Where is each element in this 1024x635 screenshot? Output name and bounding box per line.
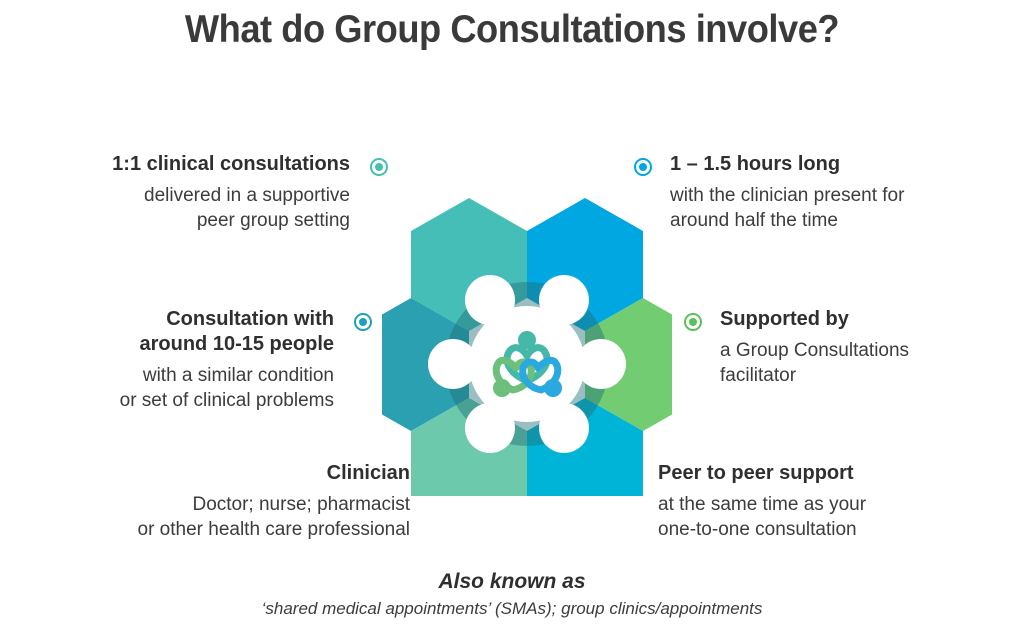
callout-clinician: Clinician Doctor; nurse; pharmacist or o… <box>0 461 448 542</box>
callout-body: with a similar condition or set of clini… <box>120 363 334 413</box>
participant-circle <box>465 275 515 325</box>
callout-group-size: Consultation with around 10-15 people wi… <box>0 307 372 413</box>
callout-duration: 1 – 1.5 hours long with the clinician pr… <box>634 152 1024 233</box>
bullet-marker-icon <box>354 313 372 331</box>
callout-one-to-one: 1:1 clinical consultations delivered in … <box>0 152 388 233</box>
callout-supported-by: Supported by a Group Consultations facil… <box>684 307 1024 388</box>
footer-subtext: ‘shared medical appointments’ (SMAs); gr… <box>0 599 1024 619</box>
callout-text: Peer to peer support at the same time as… <box>658 461 866 542</box>
callout-text: Clinician Doctor; nurse; pharmacist or o… <box>138 461 411 542</box>
participant-circle <box>465 403 515 453</box>
infographic-page: What do Group Consultations involve? 1:1… <box>0 0 1024 635</box>
callout-text: 1:1 clinical consultations delivered in … <box>112 152 350 233</box>
callout-body: Doctor; nurse; pharmacist or other healt… <box>138 492 411 542</box>
callout-peer-support: Peer to peer support at the same time as… <box>622 461 1024 542</box>
callout-heading: Clinician <box>138 461 411 486</box>
callout-text: 1 – 1.5 hours long with the clinician pr… <box>670 152 904 233</box>
callout-heading: 1:1 clinical consultations <box>112 152 350 177</box>
callout-body: with the clinician present for around ha… <box>670 183 904 233</box>
hexagon-flower-graphic <box>382 186 672 496</box>
footer-heading: Also known as <box>0 570 1024 594</box>
page-title: What do Group Consultations involve? <box>36 8 988 52</box>
participant-circle <box>428 339 478 389</box>
participant-circle <box>576 339 626 389</box>
callout-text: Consultation with around 10-15 people wi… <box>120 307 334 413</box>
callout-heading: Supported by <box>720 307 909 332</box>
callout-body: delivered in a supportive peer group set… <box>112 183 350 233</box>
callout-heading: 1 – 1.5 hours long <box>670 152 904 177</box>
bullet-marker-icon <box>370 158 388 176</box>
participant-circle <box>539 403 589 453</box>
participant-circle <box>539 275 589 325</box>
callout-heading: Peer to peer support <box>658 461 866 486</box>
bullet-marker-icon <box>634 158 652 176</box>
callout-heading: Consultation with around 10-15 people <box>120 307 334 357</box>
callout-text: Supported by a Group Consultations facil… <box>720 307 909 388</box>
callout-body: a Group Consultations facilitator <box>720 338 909 388</box>
bullet-marker-icon <box>684 313 702 331</box>
callout-body: at the same time as your one-to-one cons… <box>658 492 866 542</box>
